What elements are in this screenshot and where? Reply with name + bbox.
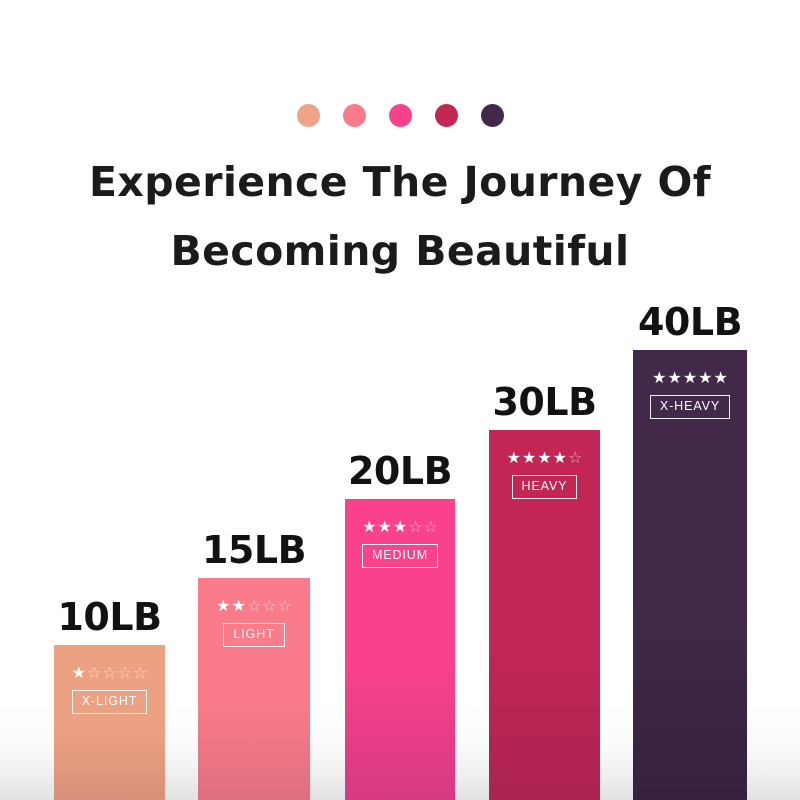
bar-content: ★☆☆☆☆X-LIGHT [54, 665, 165, 714]
star-empty-icon: ☆ [87, 665, 101, 681]
bar-group-30lb: 30LB★★★★☆HEAVY [489, 430, 600, 800]
bar-10lb: 10LB★☆☆☆☆X-LIGHT [54, 645, 165, 800]
star-filled-icon: ★ [216, 598, 230, 614]
level-tag: X-LIGHT [72, 690, 148, 714]
star-filled-icon: ★ [507, 450, 521, 466]
rating-stars: ★★★☆☆ [362, 519, 438, 535]
level-tag: HEAVY [512, 475, 578, 499]
star-filled-icon: ★ [72, 665, 86, 681]
bar-15lb: 15LB★★☆☆☆LIGHT [198, 578, 310, 800]
bar-30lb: 30LB★★★★☆HEAVY [489, 430, 600, 800]
star-filled-icon: ★ [231, 598, 245, 614]
star-filled-icon: ★ [362, 519, 376, 535]
rating-stars: ★★☆☆☆ [216, 598, 292, 614]
rating-stars: ★★★★☆ [507, 450, 583, 466]
level-tag: LIGHT [223, 623, 284, 647]
level-tag: MEDIUM [362, 544, 438, 568]
bar-group-15lb: 15LB★★☆☆☆LIGHT [198, 578, 310, 800]
bar-group-20lb: 20LB★★★☆☆MEDIUM [345, 499, 455, 800]
star-filled-icon: ★ [393, 519, 407, 535]
bar-20lb: 20LB★★★☆☆MEDIUM [345, 499, 455, 800]
star-empty-icon: ☆ [262, 598, 276, 614]
bar-value-label: 40LB [638, 300, 742, 344]
resistance-level-bar-chart: 10LB★☆☆☆☆X-LIGHT15LB★★☆☆☆LIGHT20LB★★★☆☆M… [0, 0, 800, 800]
star-empty-icon: ☆ [408, 519, 422, 535]
bar-content: ★★☆☆☆LIGHT [198, 598, 310, 647]
bar-content: ★★★★★X-HEAVY [633, 370, 747, 419]
star-filled-icon: ★ [698, 370, 712, 386]
star-filled-icon: ★ [667, 370, 681, 386]
bar-content: ★★★☆☆MEDIUM [345, 519, 455, 568]
star-empty-icon: ☆ [424, 519, 438, 535]
star-filled-icon: ★ [714, 370, 728, 386]
bar-value-label: 10LB [57, 595, 161, 639]
bar-content: ★★★★☆HEAVY [489, 450, 600, 499]
bar-group-10lb: 10LB★☆☆☆☆X-LIGHT [54, 645, 165, 800]
star-filled-icon: ★ [522, 450, 536, 466]
bar-40lb: 40LB★★★★★X-HEAVY [633, 350, 747, 800]
star-filled-icon: ★ [537, 450, 551, 466]
star-empty-icon: ☆ [102, 665, 116, 681]
rating-stars: ★★★★★ [652, 370, 728, 386]
bar-value-label: 20LB [348, 449, 452, 493]
star-empty-icon: ☆ [133, 665, 147, 681]
star-empty-icon: ☆ [278, 598, 292, 614]
bar-group-40lb: 40LB★★★★★X-HEAVY [633, 350, 747, 800]
star-filled-icon: ★ [683, 370, 697, 386]
star-filled-icon: ★ [652, 370, 666, 386]
bar-value-label: 30LB [492, 380, 596, 424]
bar-value-label: 15LB [202, 528, 306, 572]
star-filled-icon: ★ [553, 450, 567, 466]
star-empty-icon: ☆ [568, 450, 582, 466]
star-empty-icon: ☆ [118, 665, 132, 681]
level-tag: X-HEAVY [650, 395, 730, 419]
promo-poster: Experience The Journey Of Becoming Beaut… [0, 0, 800, 800]
star-filled-icon: ★ [377, 519, 391, 535]
star-empty-icon: ☆ [247, 598, 261, 614]
rating-stars: ★☆☆☆☆ [72, 665, 148, 681]
